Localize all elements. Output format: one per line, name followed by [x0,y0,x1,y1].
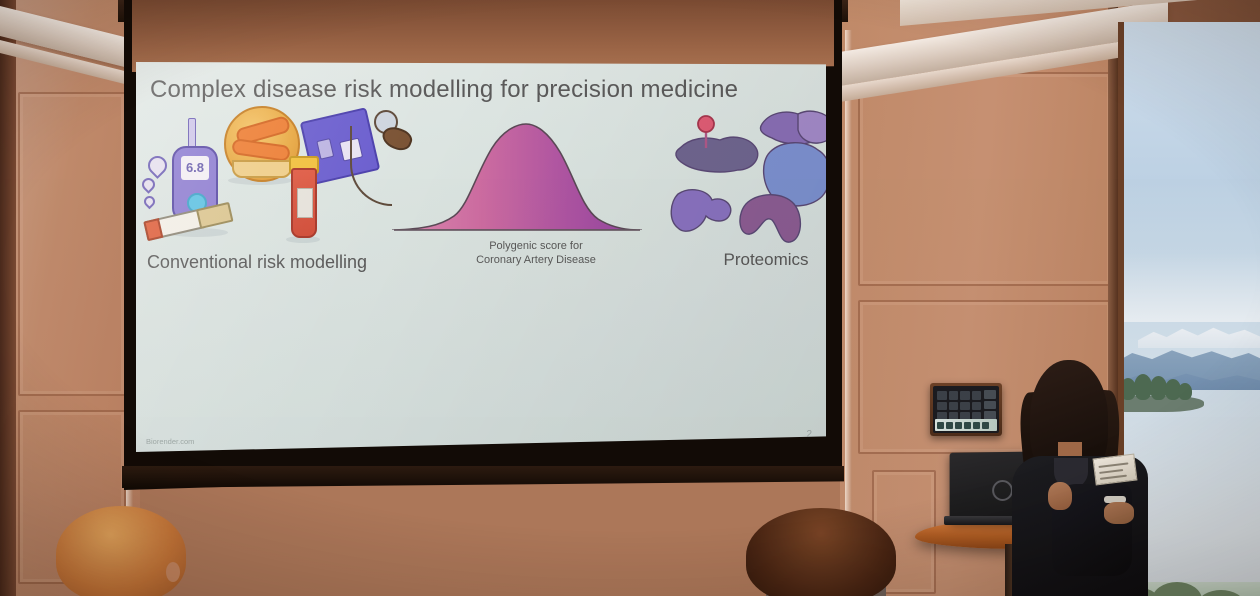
bush [1198,590,1244,596]
av-panel-face [933,386,999,433]
caption-polygenic-line1: Polygenic score for [426,240,646,254]
cuff-tab [316,138,334,160]
av-input-plate[interactable] [935,419,997,431]
protein-blob-icon [798,111,826,143]
wall-panel-inset [18,92,126,396]
usb-port-icon [964,422,971,429]
burger-bun-base [232,160,292,178]
conference-room-photo: Complex disease risk modelling for preci… [0,0,1260,596]
hand-holding-clicker [1048,482,1072,510]
av-side-buttons[interactable] [984,390,996,420]
blood-drop-icon [142,194,158,210]
protein-blobs-svg [666,100,826,250]
glucose-reading: 6.8 [181,156,209,180]
av-button[interactable] [937,391,947,400]
av-side-button[interactable] [984,401,996,410]
bush [1152,582,1202,596]
power-outlet-icon [982,422,989,429]
presentation-slide: Complex disease risk modelling for preci… [136,62,826,452]
tree [1178,383,1192,400]
curve-baseline [392,229,642,231]
polygenic-score-bell-curve [392,112,642,244]
network-port-icon [973,422,980,429]
caption-proteomics: Proteomics [676,250,826,270]
av-button[interactable] [972,402,982,411]
av-button-grid[interactable] [937,391,981,421]
audience-member-front-left [56,506,186,596]
hair [56,506,186,596]
av-button[interactable] [960,402,970,411]
projection-screen-weight-bar [122,466,844,488]
blood-tube-label [297,188,313,218]
caption-polygenic-line2: Coronary Artery Disease [426,254,646,268]
protein-blob-icon [740,195,800,242]
av-side-button[interactable] [984,390,996,399]
av-button[interactable] [937,402,947,411]
presenter [1008,360,1148,596]
hair [746,508,896,596]
blood-drop-icon [139,175,157,193]
haze-layer [1118,252,1260,322]
ligand-marker-icon [698,116,714,132]
av-control-panel[interactable] [930,383,1002,436]
caption-polygenic-score: Polygenic score for Coronary Artery Dise… [426,240,646,268]
bell-curve-area [394,124,640,230]
av-button[interactable] [949,391,959,400]
name-badge [1093,454,1138,486]
wall-panel-inset [858,72,1112,286]
projection-screen-shade [132,0,834,72]
left-wall-edge [0,0,16,596]
hand [1104,502,1134,524]
blood-collection-tube-icon [291,168,317,238]
audio-port-icon [955,422,962,429]
blood-drop-icon [144,152,171,179]
hdmi-port-icon [937,422,944,429]
badge-text-line [1100,475,1127,480]
av-button[interactable] [949,402,959,411]
badge-text-line [1099,469,1123,474]
av-button[interactable] [972,391,982,400]
vga-port-icon [946,422,953,429]
biorender-watermark: Biorender.com [146,437,194,446]
av-button[interactable] [960,391,970,400]
caption-conventional-risk: Conventional risk modelling [142,252,372,273]
protein-blob-icon [671,190,731,231]
badge-text-line [1098,462,1128,468]
conventional-risk-icon-cluster: 6.8 [136,100,406,260]
ear [166,562,180,582]
audience-member-front-center [736,508,896,596]
proteomics-icon-cluster [666,100,826,250]
protein-blob-icon [676,137,758,172]
bell-curve-svg [392,112,642,244]
